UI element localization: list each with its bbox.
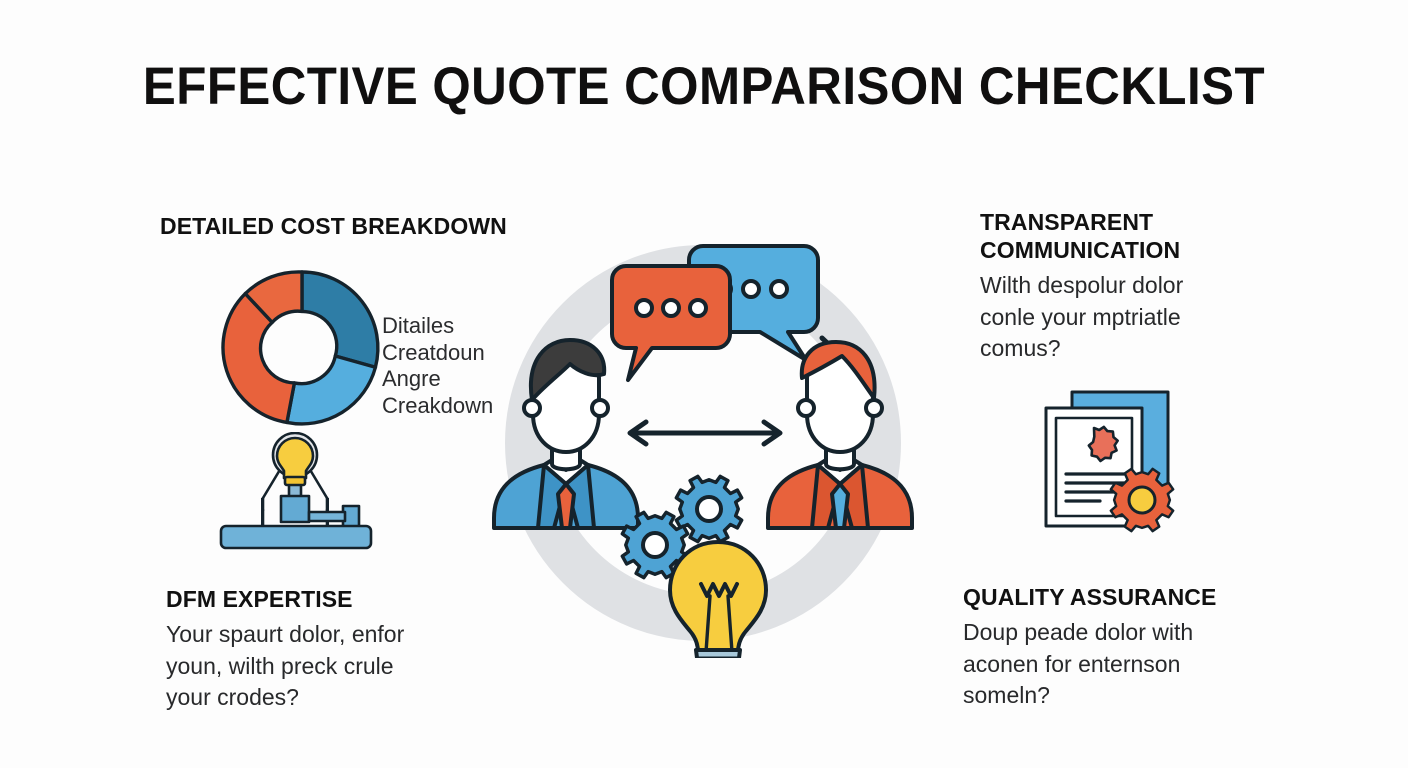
- certificate-documents-gear-icon: [1034, 382, 1206, 557]
- block-heading-quality: QUALITY ASSURANCE: [963, 583, 1293, 611]
- communication-collaboration-illustration: [488, 228, 918, 663]
- block-transparent-communication: TRANSPARENT COMMUNICATION Wilth despolur…: [980, 208, 1280, 365]
- block-body-transparent: Wilth despolur dolor conle your mptriatl…: [980, 270, 1280, 365]
- block-heading-transparent: TRANSPARENT COMMUNICATION: [980, 208, 1280, 264]
- block-body-quality: Doup peade dolor with aconen for enterns…: [963, 617, 1293, 712]
- block-dfm-expertise: DFM EXPERTISE Your spaurt dolor, enfor y…: [166, 585, 496, 714]
- lightbulb: [670, 542, 766, 658]
- speech-bubble-orange: [612, 266, 730, 380]
- double-arrow: [630, 422, 780, 444]
- block-heading-dfm: DFM EXPERTISE: [166, 585, 496, 613]
- stamping-press-lightbulb-icon: [205, 432, 385, 567]
- block-quality-assurance: QUALITY ASSURANCE Doup peade dolor with …: [963, 583, 1293, 712]
- block-body-dfm: Your spaurt dolor, enfor youn, wilth pre…: [166, 619, 496, 714]
- donut-chart-icon: [216, 262, 388, 439]
- infographic-canvas: EFFECTIVE QUOTE COMPARISON CHECKLIST Dit…: [0, 0, 1408, 768]
- page-title: EFFECTIVE QUOTE COMPARISON CHECKLIST: [49, 56, 1358, 117]
